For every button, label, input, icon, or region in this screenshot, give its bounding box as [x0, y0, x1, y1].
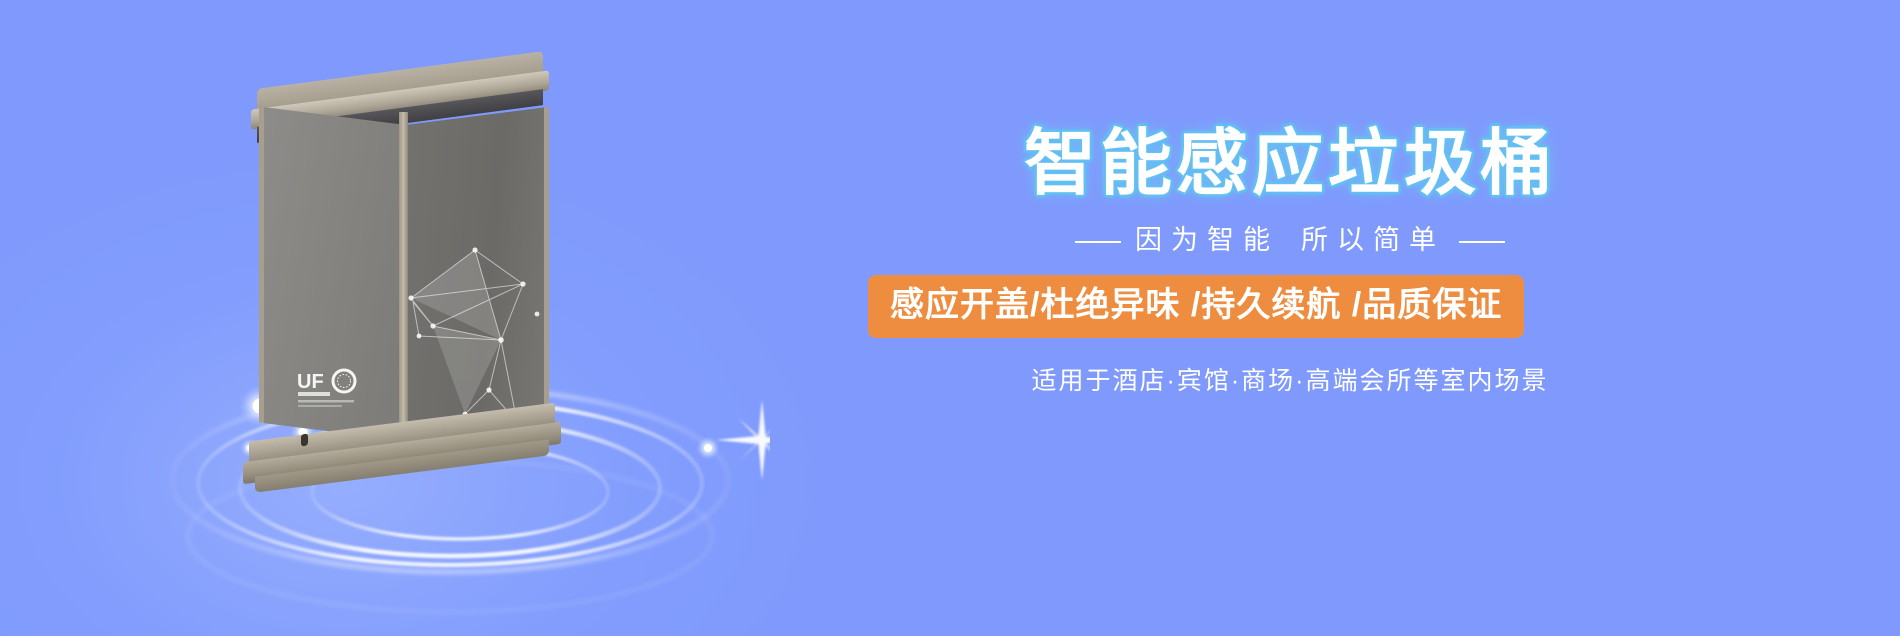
ufo-brand-logo: UF — [297, 366, 371, 410]
feature-list-badge: 感应开盖/杜绝异味 /持久续航 /品质保证 — [868, 275, 1524, 338]
tagline-left-text: 因为智能 — [1135, 225, 1279, 255]
copy-block: 智能感应垃圾桶 因为智能所以简单 感应开盖/杜绝异味 /持久续航 /品质保证 适… — [880, 0, 1880, 636]
svg-text:UF: UF — [297, 371, 324, 393]
tagline-rule-left — [1075, 241, 1121, 243]
headline-title: 智能感应垃圾桶 — [880, 128, 1700, 200]
trash-can-body: UF — [245, 60, 585, 480]
polygon-mesh-graphic — [405, 240, 550, 430]
usage-scenarios-text: 适用于酒店·宾馆·商场·高端会所等室内场景 — [880, 361, 1700, 397]
product-image: UF — [150, 40, 770, 600]
tagline-right-text: 所以简单 — [1301, 225, 1445, 255]
base-keyhole — [301, 434, 308, 447]
tagline-rule-right — [1459, 241, 1505, 243]
promo-banner: UF 智能感应垃圾桶 因为智能所以简单 感应开盖/杜绝异味 /持久续航 /品质保… — [0, 0, 1900, 636]
tagline: 因为智能所以简单 — [880, 218, 1700, 257]
